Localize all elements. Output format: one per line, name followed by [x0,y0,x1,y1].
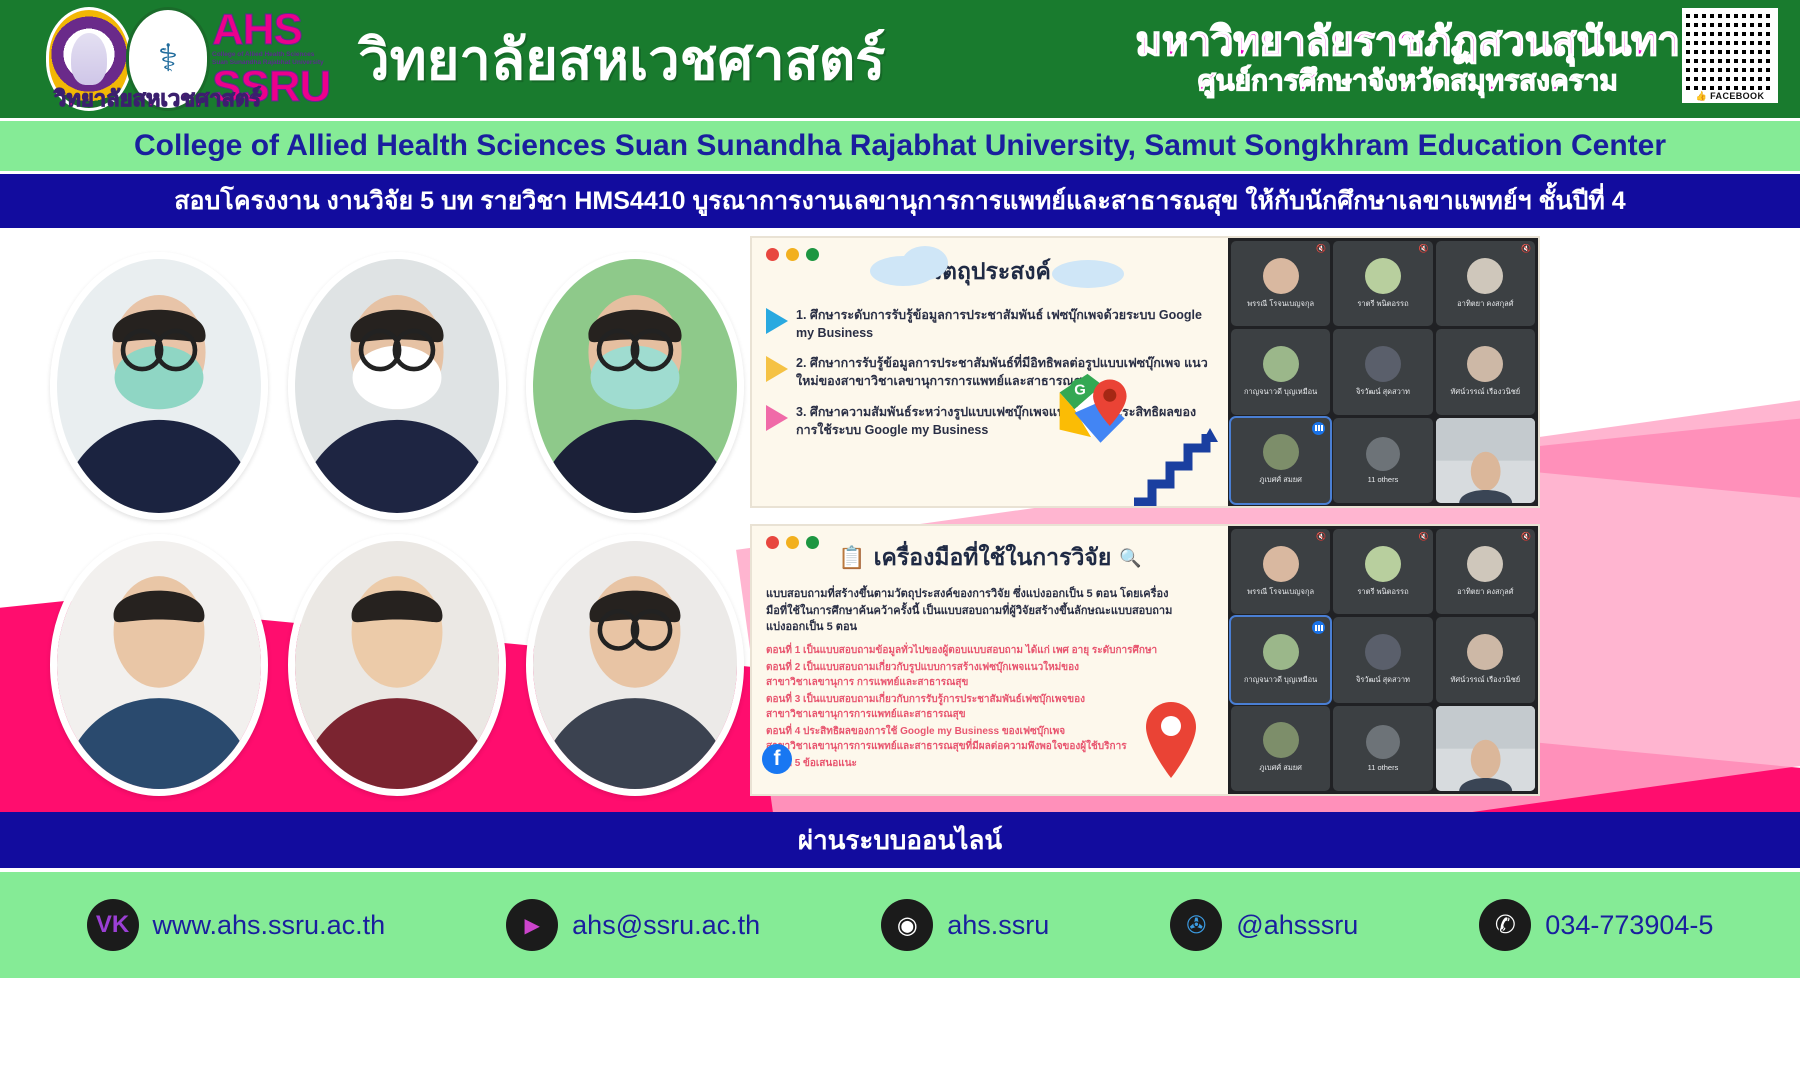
qr-code-block[interactable]: 👍 FACEBOOK [1682,8,1778,103]
slide-objectives-title: วัตถุประสงค์ [766,254,1214,290]
education-center-thai: ศูนย์การศึกษาจังหวัดสมุทรสงคราม [1136,64,1680,98]
participant-name: อาทิตยา คงสกุลศ์ [1457,586,1513,598]
participant-name: พรรณี โรจนเบญจกุล [1247,298,1314,310]
avatar [1365,546,1401,582]
participant-name: ภูเบศศ์ สมยศ [1259,762,1302,774]
meet-participant-tile[interactable]: กาญจนาวดี บุญเหมือน [1231,617,1330,702]
mic-off-icon: 🔇 [1419,244,1429,253]
avatar [1263,722,1299,758]
tools-bullet: ตอนที่ 2 เป็นแบบสอบถามเกี่ยวกับรูปแบบการ… [766,661,1214,690]
close-dot-icon [766,248,779,261]
bullet-text: 2. ศึกษาการรับรู้ข้อมูลการประชาสัมพันธ์ท… [796,354,1214,390]
avatar [1263,346,1299,382]
portrait-3 [526,252,744,520]
mic-off-icon: 🔇 [1521,244,1531,253]
avatar [1467,258,1503,294]
avatar [1263,258,1299,294]
slide-tools-title: เครื่องมือที่ใช้ในการวิจัย [874,540,1112,576]
meet-grid-bottom[interactable]: 🔇 พรรณี โรจนเบญจกุล🔇 ราตรี พนิตอรรถ🔇 อาท… [1228,526,1538,794]
mic-off-icon: 🔇 [1521,532,1531,541]
contact-phone-text: 034-773904-5 [1545,910,1713,941]
contact-website-text: www.ahs.ssru.ac.th [153,910,386,941]
facebook-icon: f [762,744,792,774]
participant-name: ทัศน์วรรณ์ เรืองวนิชย์ [1450,386,1520,398]
page-header: ⚕ AHS College of Allied Health Sciences … [0,0,1800,118]
mic-off-icon: 🔇 [1316,244,1326,253]
participant-name: อาทิตยา คงสกุลศ์ [1457,298,1513,310]
slide-objectives-bullets: 1. ศึกษาระดับการรับรู้ข้อมูลการประชาสัมพ… [766,306,1214,439]
maximize-dot-icon [806,248,819,261]
online-bar-text: ผ่านระบบออนไลน์ [798,820,1002,861]
avatar [1365,346,1401,382]
portrait-image [295,259,499,513]
portrait-image [57,259,261,513]
main-content: วัตถุประสงค์ 1. ศึกษาระดับการรับรู้ข้อมู… [0,228,1800,812]
bullet-item: 1. ศึกษาระดับการรับรู้ข้อมูลการประชาสัมพ… [766,306,1214,342]
svg-text:G: G [1074,382,1086,398]
participant-name: ทัศน์วรรณ์ เรืองวนิชย์ [1450,674,1520,686]
avatar [1263,634,1299,670]
overflow-avatar [1366,725,1400,759]
participant-name: กาญจนาวดี บุญเหมือน [1244,386,1317,398]
mic-off-icon: 🔇 [1316,532,1326,541]
portrait-1 [50,252,268,520]
location-pin-icon [1142,700,1200,780]
youtube-icon: ▶ [506,899,558,951]
meet-participant-tile[interactable]: ทัศน์วรรณ์ เรืองวนิชย์ [1436,329,1535,414]
triangle-bullet-icon [766,308,788,334]
avatar [1365,258,1401,294]
university-name-thai: มหาวิทยาลัยราชภัฏสวนสุนันทา [1136,20,1680,64]
meet-participant-tile[interactable] [1436,706,1535,791]
overflow-count-label: 11 others [1368,475,1399,484]
maximize-dot-icon [806,536,819,549]
close-dot-icon [766,536,779,549]
triangle-bullet-icon [766,405,788,431]
contact-website[interactable]: VK www.ahs.ssru.ac.th [87,899,386,951]
qr-facebook-label: 👍 FACEBOOK [1686,90,1774,102]
google-maps-icon: G [1052,372,1136,452]
portrait-4 [50,534,268,796]
participant-name: กาญจนาวดี บุญเหมือน [1244,674,1317,686]
window-dots [766,248,819,261]
avatar [1365,634,1401,670]
tools-bullet: ตอนที่ 1 เป็นแบบสอบถามข้อมูลทั่วไปของผู้… [766,644,1214,659]
vk-icon: VK [87,899,139,951]
contact-footer: VK www.ahs.ssru.ac.th ▶ ahs@ssru.ac.th ◉… [0,868,1800,978]
avatar [1263,546,1299,582]
meet-participant-tile[interactable]: กาญจนาวดี บุญเหมือน [1231,329,1330,414]
instagram-icon: ◉ [881,899,933,951]
cloud-icon-3 [1052,260,1124,288]
header-title-thai: วิทยาลัยสหเวชศาสตร์ [358,15,885,104]
slide-objectives[interactable]: วัตถุประสงค์ 1. ศึกษาระดับการรับรู้ข้อมู… [750,236,1540,508]
english-title-text: College of Allied Health Sciences Suan S… [134,129,1666,163]
twitter-icon: ✇ [1170,899,1222,951]
slide-gallery: วัตถุประสงค์ 1. ศึกษาระดับการรับรู้ข้อมู… [750,236,1792,802]
portrait-image [533,259,737,513]
meet-participant-tile[interactable]: 🔇 อาทิตยา คงสกุลศ์ [1436,241,1535,326]
portrait-gallery [30,234,740,806]
bullet-item: 2. ศึกษาการรับรู้ข้อมูลการประชาสัมพันธ์ท… [766,354,1214,390]
avatar [1467,346,1503,382]
mic-off-icon: 🔇 [1419,532,1429,541]
avatar [1467,634,1503,670]
contact-phone[interactable]: ✆ 034-773904-5 [1479,899,1713,951]
meet-participant-tile[interactable]: 🔇 พรรณี โรจนเบญจกุล [1231,241,1330,326]
topic-bar: สอบโครงงาน งานวิจัย 5 บท รายวิชา HMS4410… [0,174,1800,228]
contact-twitter-text: @ahsssru [1236,910,1358,941]
qr-code-icon [1686,12,1774,90]
cloud-icon-2 [902,246,948,280]
contact-twitter[interactable]: ✇ @ahsssru [1170,899,1358,951]
contact-youtube[interactable]: ▶ ahs@ssru.ac.th [506,899,760,951]
meet-participant-tile[interactable]: จิรวัฒน์ สุดสวาท [1333,617,1432,702]
contact-instagram[interactable]: ◉ ahs.ssru [881,899,1049,951]
meet-video-feed [1436,706,1535,791]
meet-overflow-tile[interactable]: 11 others [1333,418,1432,503]
slide-tools-body: 📋 เครื่องมือที่ใช้ในการวิจัย 🔍 แบบสอบถาม… [752,526,1228,794]
speaker-icon [1312,422,1325,435]
meet-participant-tile[interactable]: ภูเบศศ์ สมยศ [1231,706,1330,791]
header-right-block: มหาวิทยาลัยราชภัฏสวนสุนันทา ศูนย์การศึกษ… [1136,20,1680,98]
logo-block: ⚕ AHS College of Allied Health Sciences … [46,7,330,111]
bullet-text: 1. ศึกษาระดับการรับรู้ข้อมูลการประชาสัมพ… [796,306,1214,342]
meet-participant-tile[interactable]: จิรวัฒน์ สุดสวาท [1333,329,1432,414]
minimize-dot-icon [786,536,799,549]
portrait-image [533,541,737,789]
portrait-2 [288,252,506,520]
slide-objectives-body: วัตถุประสงค์ 1. ศึกษาระดับการรับรู้ข้อมู… [752,238,1228,506]
avatar [1263,434,1299,470]
minimize-dot-icon [786,248,799,261]
meet-participant-tile[interactable]: ภูเบศศ์ สมยศ [1231,418,1330,503]
slide-tools[interactable]: 📋 เครื่องมือที่ใช้ในการวิจัย 🔍 แบบสอบถาม… [750,524,1540,796]
overflow-avatar [1366,437,1400,471]
participant-name: ภูเบศศ์ สมยศ [1259,474,1302,486]
caduceus-icon: ⚕ [158,40,179,78]
triangle-bullet-icon [766,356,788,382]
speaker-icon [1312,621,1325,634]
online-bar: ผ่านระบบออนไลน์ [0,812,1800,868]
participant-name: จิรวัฒน์ สุดสวาท [1356,674,1410,686]
portrait-6 [526,534,744,796]
logo-thai-caption: วิทยาลัยสหเวชศาสตร์ [54,81,261,116]
slide-tools-intro: แบบสอบถามที่สร้างขึ้นตามวัตถุประสงค์ของก… [766,586,1214,636]
magnifier-icon: 🔍 [1119,548,1141,569]
stairs-growth-icon [1132,428,1222,506]
portrait-image [57,541,261,789]
meet-video-feed [1436,418,1535,503]
contact-instagram-text: ahs.ssru [947,910,1049,941]
ahs-label: AHS [212,10,330,50]
clipboard-icon: 📋 [838,545,865,571]
avatar [1467,546,1503,582]
meet-participant-tile[interactable]: 🔇 ราตรี พนิตอรรถ [1333,241,1432,326]
meet-participant-tile[interactable]: 🔇 ราตรี พนิตอรรถ [1333,529,1432,614]
participant-name: ราตรี พนิตอรรถ [1357,586,1408,598]
portrait-5 [288,534,506,796]
meet-participant-tile[interactable]: 🔇 พรรณี โรจนเบญจกุล [1231,529,1330,614]
overflow-count-label: 11 others [1368,763,1399,772]
window-dots [766,536,819,549]
english-title-bar: College of Allied Health Sciences Suan S… [0,118,1800,174]
meet-participant-tile[interactable]: 🔇 อาทิตยา คงสกุลศ์ [1436,529,1535,614]
meet-overflow-tile[interactable]: 11 others [1333,706,1432,791]
participant-name: พรรณี โรจนเบญจกุล [1247,586,1314,598]
participant-name: ราตรี พนิตอรรถ [1357,298,1408,310]
whatsapp-icon: ✆ [1479,899,1531,951]
ahs-sub1: College of Allied Health Sciences [212,51,330,59]
topic-bar-text: สอบโครงงาน งานวิจัย 5 บท รายวิชา HMS4410… [174,181,1625,221]
portrait-image [295,541,499,789]
meet-grid-top[interactable]: 🔇 พรรณี โรจนเบญจกุล🔇 ราตรี พนิตอรรถ🔇 อาท… [1228,238,1538,506]
thumbs-up-icon: 👍 [1696,91,1708,101]
meet-participant-tile[interactable] [1436,418,1535,503]
contact-youtube-text: ahs@ssru.ac.th [572,910,760,941]
meet-participant-tile[interactable]: ทัศน์วรรณ์ เรืองวนิชย์ [1436,617,1535,702]
participant-name: จิรวัฒน์ สุดสวาท [1356,386,1410,398]
